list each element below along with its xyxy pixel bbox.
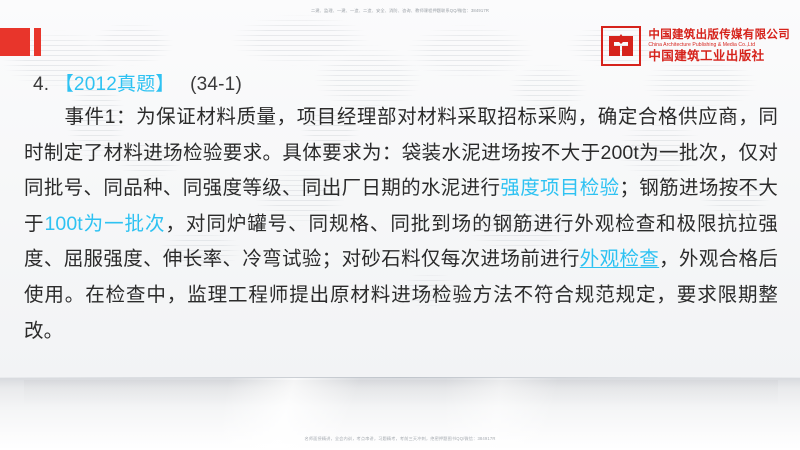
micro-footer-text: 名师面授精讲，全会内训，考点串讲，习题精考，考前三天冲刺，绝密押题图书QQ/微信… — [0, 436, 800, 442]
page-title: 4. 【2012真题】 (34-1) — [33, 69, 242, 96]
title-bracket-text: 【2012真题】 — [55, 74, 175, 95]
body-text-run-5: 外观检查 — [580, 248, 659, 270]
slide-content: 4. 【2012真题】 (34-1) 事件1：为保证材料质量，项目经理部对材料采… — [0, 0, 800, 378]
title-number-ref: (34-1) — [190, 74, 242, 95]
question-body: 事件1：为保证材料质量，项目经理部对材料采取招标采购，确定合格供应商，同时制定了… — [24, 100, 778, 349]
body-text-run-1: 强度项目检验 — [500, 177, 619, 199]
title-index: 4. — [33, 74, 49, 95]
presentation-slide: 二建、监理、一建、一造、二造、安全、消防、咨询、教师课程押题联系QQ/微信：38… — [0, 0, 800, 450]
body-text-run-3: 100t为一批次 — [44, 213, 165, 235]
